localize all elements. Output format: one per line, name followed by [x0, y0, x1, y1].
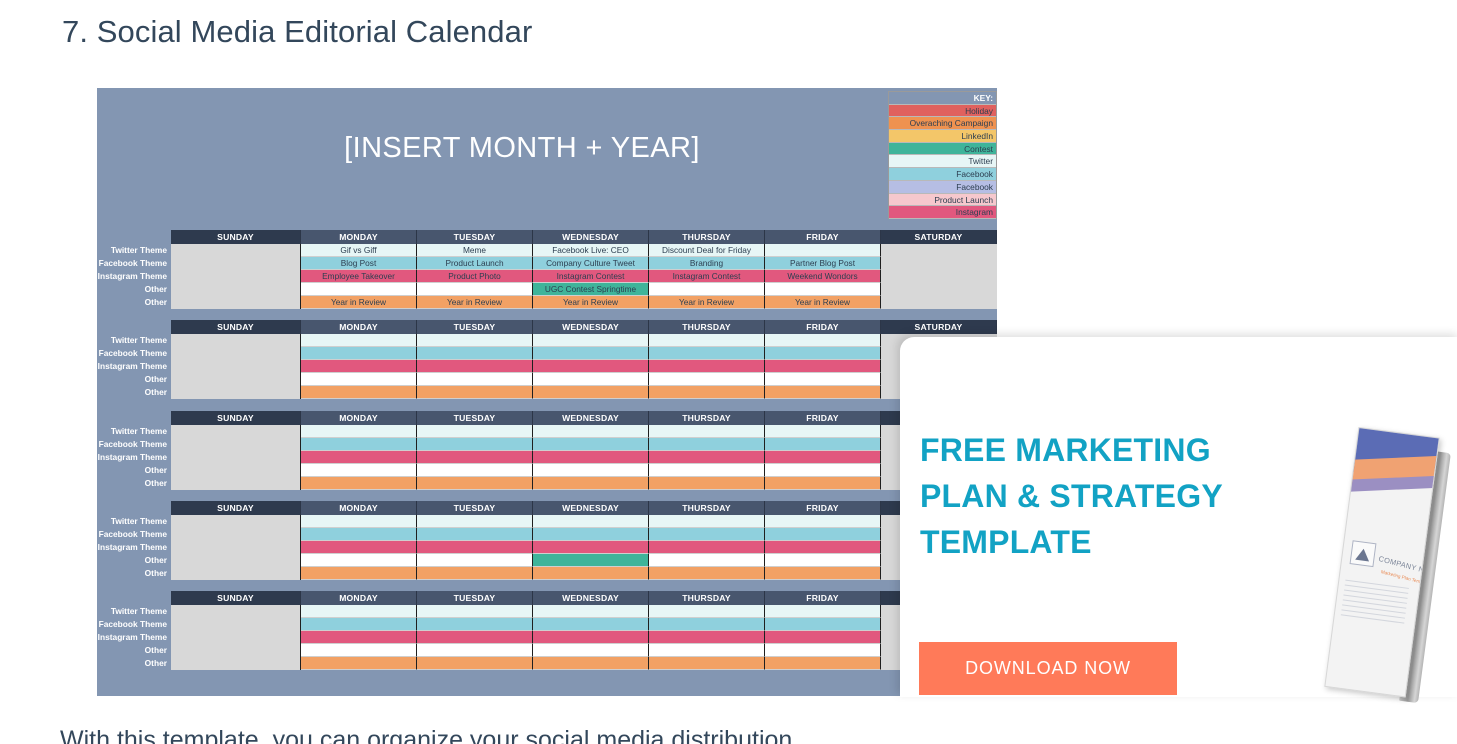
- calendar-cell[interactable]: [417, 283, 533, 296]
- calendar-cell[interactable]: [417, 541, 533, 554]
- calendar-day-header[interactable]: SUNDAY: [171, 230, 301, 244]
- calendar-cell[interactable]: [649, 438, 765, 451]
- calendar-day-header[interactable]: THURSDAY: [649, 411, 765, 425]
- calendar-row: [171, 605, 997, 618]
- calendar-day-header[interactable]: SUNDAY: [171, 320, 301, 334]
- calendar-row-label: Facebook Theme: [97, 347, 167, 360]
- calendar-cell[interactable]: [301, 605, 417, 618]
- calendar-cell[interactable]: [171, 360, 301, 373]
- calendar-row-label: Other: [97, 554, 167, 567]
- calendar-row: [171, 528, 997, 541]
- calendar-cell[interactable]: [765, 631, 881, 644]
- calendar-cell[interactable]: Year in Review: [533, 296, 649, 309]
- calendar-cell[interactable]: [765, 451, 881, 464]
- calendar-cell[interactable]: [765, 541, 881, 554]
- calendar-cell[interactable]: [765, 528, 881, 541]
- calendar-cell[interactable]: [301, 618, 417, 631]
- calendar-cell[interactable]: [301, 515, 417, 528]
- calendar-day-header[interactable]: SATURDAY: [881, 320, 997, 334]
- calendar-cell[interactable]: [533, 334, 649, 347]
- calendar-row: [171, 438, 997, 451]
- calendar-cell[interactable]: [171, 541, 301, 554]
- calendar-cell[interactable]: [417, 360, 533, 373]
- calendar-cell[interactable]: [417, 425, 533, 438]
- calendar-cell[interactable]: [417, 373, 533, 386]
- calendar-cell[interactable]: [649, 334, 765, 347]
- calendar-cell[interactable]: [301, 334, 417, 347]
- calendar-day-header[interactable]: TUESDAY: [417, 230, 533, 244]
- calendar-cell[interactable]: [649, 528, 765, 541]
- calendar-cell[interactable]: [171, 528, 301, 541]
- calendar-cell[interactable]: [649, 554, 765, 567]
- calendar-cell[interactable]: [171, 477, 301, 490]
- calendar-cell[interactable]: [171, 386, 301, 399]
- calendar-cell[interactable]: Discount Deal for Friday: [649, 244, 765, 257]
- calendar-row-label: Twitter Theme: [97, 334, 167, 347]
- calendar-cell[interactable]: [417, 605, 533, 618]
- calendar-cell[interactable]: [649, 567, 765, 580]
- calendar-cell[interactable]: [301, 528, 417, 541]
- calendar-cell[interactable]: [533, 528, 649, 541]
- calendar-cell[interactable]: [881, 283, 997, 296]
- calendar-row: UGC Contest Springtime: [171, 283, 997, 296]
- calendar-cell[interactable]: [301, 657, 417, 670]
- calendar-cell[interactable]: [171, 257, 301, 270]
- calendar-cell[interactable]: [171, 244, 301, 257]
- calendar-row: [171, 360, 997, 373]
- calendar-day-header[interactable]: WEDNESDAY: [533, 320, 649, 334]
- calendar-cell[interactable]: [649, 605, 765, 618]
- calendar-row-label: Twitter Theme: [97, 515, 167, 528]
- calendar-row: [171, 567, 997, 580]
- calendar-cell[interactable]: [417, 386, 533, 399]
- calendar-row: [171, 477, 997, 490]
- template-book-mockup-image: COMPANY NAME Marketing Plan Template: [1335, 422, 1453, 712]
- promo-headline: FREE MARKETING PLAN & STRATEGY TEMPLATE: [920, 427, 1290, 565]
- book-shape: COMPANY NAME Marketing Plan Template: [1324, 427, 1451, 699]
- calendar-day-header[interactable]: FRIDAY: [765, 411, 881, 425]
- body-paragraph: With this template, you can organize you…: [60, 726, 792, 744]
- calendar-day-header[interactable]: MONDAY: [301, 411, 417, 425]
- calendar-cell[interactable]: [417, 618, 533, 631]
- calendar-row-label: Other: [97, 386, 167, 399]
- calendar-cell[interactable]: [533, 567, 649, 580]
- calendar-cell[interactable]: [533, 618, 649, 631]
- calendar-cell[interactable]: [301, 554, 417, 567]
- calendar-cell[interactable]: [649, 464, 765, 477]
- calendar-cell[interactable]: [171, 644, 301, 657]
- calendar-cell[interactable]: [533, 515, 649, 528]
- calendar-row-label: Twitter Theme: [97, 605, 167, 618]
- calendar-day-header[interactable]: THURSDAY: [649, 230, 765, 244]
- calendar-cell[interactable]: Instagram Contest: [649, 270, 765, 283]
- calendar-cell[interactable]: [649, 515, 765, 528]
- calendar-cell[interactable]: [171, 605, 301, 618]
- calendar-cell[interactable]: [417, 528, 533, 541]
- calendar-cell[interactable]: Year in Review: [417, 296, 533, 309]
- calendar-cell[interactable]: [765, 567, 881, 580]
- calendar-cell[interactable]: [533, 386, 649, 399]
- calendar-day-header[interactable]: WEDNESDAY: [533, 591, 649, 605]
- calendar-row-label: Other: [97, 296, 167, 309]
- calendar-cell[interactable]: Year in Review: [649, 296, 765, 309]
- calendar-cell[interactable]: [765, 464, 881, 477]
- calendar-cell[interactable]: [301, 425, 417, 438]
- calendar-cell[interactable]: [171, 567, 301, 580]
- calendar-day-header[interactable]: MONDAY: [301, 591, 417, 605]
- calendar-cell[interactable]: [301, 386, 417, 399]
- calendar-row: [171, 334, 997, 347]
- calendar-row-labels: Twitter ThemeFacebook ThemeInstagram The…: [97, 244, 169, 309]
- calendar-cell[interactable]: [649, 477, 765, 490]
- calendar-cell[interactable]: [533, 425, 649, 438]
- calendar-day-header-row: SUNDAYMONDAYTUESDAYWEDNESDAYTHURSDAYFRID…: [171, 411, 997, 425]
- calendar-row-label: Facebook Theme: [97, 438, 167, 451]
- calendar-cell[interactable]: [417, 554, 533, 567]
- calendar-cell[interactable]: [533, 631, 649, 644]
- calendar-cell[interactable]: [301, 283, 417, 296]
- calendar-row: [171, 644, 997, 657]
- calendar-day-header-row: SUNDAYMONDAYTUESDAYWEDNESDAYTHURSDAYFRID…: [171, 230, 997, 244]
- calendar-row: Employee TakeoverProduct PhotoInstagram …: [171, 270, 997, 283]
- calendar-row-label: Other: [97, 657, 167, 670]
- calendar-cell[interactable]: Meme: [417, 244, 533, 257]
- calendar-cell[interactable]: [417, 464, 533, 477]
- calendar-cell[interactable]: [649, 386, 765, 399]
- calendar-day-header[interactable]: FRIDAY: [765, 320, 881, 334]
- calendar-row-label: Facebook Theme: [97, 528, 167, 541]
- calendar-day-header[interactable]: THURSDAY: [649, 591, 765, 605]
- calendar-cell[interactable]: [301, 644, 417, 657]
- calendar-cell[interactable]: [417, 438, 533, 451]
- calendar-row-labels: Twitter ThemeFacebook ThemeInstagram The…: [97, 425, 169, 490]
- calendar-cell[interactable]: [417, 451, 533, 464]
- calendar-cell[interactable]: [765, 360, 881, 373]
- calendar-cell[interactable]: [417, 567, 533, 580]
- calendar-row: [171, 386, 997, 399]
- calendar-day-header[interactable]: MONDAY: [301, 230, 417, 244]
- calendar-cell[interactable]: [301, 373, 417, 386]
- calendar-cell[interactable]: Year in Review: [301, 296, 417, 309]
- calendar-day-header[interactable]: TUESDAY: [417, 320, 533, 334]
- calendar-cell[interactable]: Employee Takeover: [301, 270, 417, 283]
- calendar-cell[interactable]: Product Photo: [417, 270, 533, 283]
- calendar-cell[interactable]: [171, 283, 301, 296]
- calendar-row-label: Other: [97, 644, 167, 657]
- calendar-cell[interactable]: [533, 657, 649, 670]
- calendar-row: [171, 657, 997, 670]
- promo-headline-line-3: TEMPLATE: [920, 519, 1290, 565]
- calendar-day-header[interactable]: MONDAY: [301, 501, 417, 515]
- calendar-cell[interactable]: [881, 244, 997, 257]
- calendar-cell[interactable]: [533, 451, 649, 464]
- calendar-cell[interactable]: [301, 464, 417, 477]
- calendar-cell[interactable]: [171, 270, 301, 283]
- calendar-cell[interactable]: [533, 347, 649, 360]
- calendar-day-header[interactable]: SATURDAY: [881, 230, 997, 244]
- calendar-row: [171, 631, 997, 644]
- calendar-row: [171, 451, 997, 464]
- calendar-cell[interactable]: [765, 515, 881, 528]
- calendar-cell[interactable]: [171, 425, 301, 438]
- calendar-cell[interactable]: [765, 618, 881, 631]
- key-legend-item: Instagram: [889, 206, 996, 219]
- key-legend-header: KEY:: [889, 92, 996, 105]
- calendar-cell[interactable]: Company Culture Tweet: [533, 257, 649, 270]
- calendar-day-header[interactable]: MONDAY: [301, 320, 417, 334]
- page-title: 7. Social Media Editorial Calendar: [62, 14, 532, 50]
- calendar-row: [171, 515, 997, 528]
- calendar-cell[interactable]: [649, 618, 765, 631]
- calendar-row-label: Twitter Theme: [97, 244, 167, 257]
- calendar-row-label: Instagram Theme: [97, 451, 167, 464]
- calendar-day-header-row: SUNDAYMONDAYTUESDAYWEDNESDAYTHURSDAYFRID…: [171, 591, 997, 605]
- calendar-cell[interactable]: [649, 657, 765, 670]
- calendar-cell[interactable]: [881, 257, 997, 270]
- calendar-cell[interactable]: [765, 657, 881, 670]
- calendar-cell[interactable]: [301, 567, 417, 580]
- calendar-cell[interactable]: [301, 541, 417, 554]
- calendar-row-label: Other: [97, 477, 167, 490]
- key-legend-item: Product Launch: [889, 194, 996, 207]
- calendar-cell[interactable]: [765, 386, 881, 399]
- calendar-cell[interactable]: [765, 477, 881, 490]
- calendar-row-label: Facebook Theme: [97, 257, 167, 270]
- key-legend-item: Contest: [889, 143, 996, 156]
- calendar-cell[interactable]: [533, 438, 649, 451]
- calendar-row: [171, 464, 997, 477]
- calendar-cell[interactable]: [649, 631, 765, 644]
- calendar-cell[interactable]: [649, 360, 765, 373]
- calendar-cell[interactable]: [171, 438, 301, 451]
- calendar-cell[interactable]: [765, 605, 881, 618]
- calendar-cell[interactable]: [533, 644, 649, 657]
- calendar-row-label: Instagram Theme: [97, 360, 167, 373]
- calendar-cell[interactable]: Branding: [649, 257, 765, 270]
- calendar-row: [171, 347, 997, 360]
- calendar-month-year-title: [INSERT MONTH + YEAR]: [177, 132, 867, 165]
- calendar-cell[interactable]: [301, 360, 417, 373]
- calendar-cell[interactable]: [417, 515, 533, 528]
- calendar-cell[interactable]: [881, 296, 997, 309]
- calendar-cell[interactable]: [417, 631, 533, 644]
- calendar-day-header[interactable]: WEDNESDAY: [533, 501, 649, 515]
- calendar-cell[interactable]: [765, 644, 881, 657]
- social-media-calendar-image: [INSERT MONTH + YEAR] KEY: HolidayOverac…: [97, 88, 997, 696]
- calendar-cell[interactable]: [171, 618, 301, 631]
- key-legend-item: Facebook: [889, 181, 996, 194]
- calendar-row: [171, 425, 997, 438]
- calendar-day-header[interactable]: SUNDAY: [171, 591, 301, 605]
- calendar-cell[interactable]: [765, 334, 881, 347]
- book-text-lines: [1340, 580, 1409, 628]
- calendar-cell[interactable]: Blog Post: [301, 257, 417, 270]
- calendar-row: [171, 373, 997, 386]
- calendar-cell[interactable]: [171, 347, 301, 360]
- calendar-cell[interactable]: [171, 334, 301, 347]
- key-legend-item: Overaching Campaign: [889, 117, 996, 130]
- calendar-row: [171, 618, 997, 631]
- calendar-cell[interactable]: [417, 477, 533, 490]
- calendar-cell[interactable]: [649, 373, 765, 386]
- key-legend-item: Twitter: [889, 155, 996, 168]
- calendar-row: Year in ReviewYear in ReviewYear in Revi…: [171, 296, 997, 309]
- calendar-row-label: Instagram Theme: [97, 631, 167, 644]
- calendar-cell[interactable]: [649, 347, 765, 360]
- calendar-cell[interactable]: Product Launch: [417, 257, 533, 270]
- calendar-cell[interactable]: [171, 631, 301, 644]
- key-legend-item: LinkedIn: [889, 130, 996, 143]
- calendar-cell[interactable]: [765, 425, 881, 438]
- calendar-day-header-row: SUNDAYMONDAYTUESDAYWEDNESDAYTHURSDAYFRID…: [171, 501, 997, 515]
- calendar-cell[interactable]: [417, 644, 533, 657]
- calendar-row-label: Twitter Theme: [97, 425, 167, 438]
- calendar-week-grid: SUNDAYMONDAYTUESDAYWEDNESDAYTHURSDAYFRID…: [171, 501, 997, 580]
- key-legend: KEY: HolidayOveraching CampaignLinkedInC…: [888, 91, 997, 219]
- calendar-row-label: Instagram Theme: [97, 270, 167, 283]
- calendar-cell[interactable]: [533, 464, 649, 477]
- calendar-cell[interactable]: [765, 244, 881, 257]
- calendar-cell[interactable]: [171, 657, 301, 670]
- calendar-cell[interactable]: [533, 605, 649, 618]
- calendar-cell[interactable]: Instagram Contest: [533, 270, 649, 283]
- calendar-cell[interactable]: Partner Blog Post: [765, 257, 881, 270]
- calendar-day-header-row: SUNDAYMONDAYTUESDAYWEDNESDAYTHURSDAYFRID…: [171, 320, 997, 334]
- calendar-row-label: Instagram Theme: [97, 541, 167, 554]
- calendar-week-grid: SUNDAYMONDAYTUESDAYWEDNESDAYTHURSDAYFRID…: [171, 411, 997, 490]
- promo-headline-line-1: FREE MARKETING: [920, 427, 1290, 473]
- calendar-cell[interactable]: [765, 373, 881, 386]
- calendar-cell[interactable]: [533, 477, 649, 490]
- calendar-row: Blog PostProduct LaunchCompany Culture T…: [171, 257, 997, 270]
- calendar-cell[interactable]: [533, 541, 649, 554]
- calendar-cell[interactable]: Gif vs Giff: [301, 244, 417, 257]
- calendar-row-label: Other: [97, 464, 167, 477]
- calendar-day-header[interactable]: TUESDAY: [417, 411, 533, 425]
- calendar-week-grid: SUNDAYMONDAYTUESDAYWEDNESDAYTHURSDAYFRID…: [171, 230, 997, 309]
- calendar-cell[interactable]: Facebook Live: CEO: [533, 244, 649, 257]
- calendar-cell[interactable]: [765, 438, 881, 451]
- calendar-cell[interactable]: [301, 451, 417, 464]
- calendar-week-grid: SUNDAYMONDAYTUESDAYWEDNESDAYTHURSDAYFRID…: [171, 591, 997, 670]
- calendar-day-header[interactable]: WEDNESDAY: [533, 411, 649, 425]
- calendar-cell[interactable]: [765, 283, 881, 296]
- calendar-day-header[interactable]: SUNDAY: [171, 411, 301, 425]
- page-root: 7. Social Media Editorial Calendar [INSE…: [0, 0, 1457, 744]
- calendar-cell[interactable]: UGC Contest Springtime: [533, 283, 649, 296]
- calendar-row-label: Other: [97, 567, 167, 580]
- calendar-cell[interactable]: [881, 270, 997, 283]
- calendar-cell[interactable]: [171, 373, 301, 386]
- calendar-cell[interactable]: [533, 373, 649, 386]
- calendar-row-labels: Twitter ThemeFacebook ThemeInstagram The…: [97, 334, 169, 399]
- calendar-cell[interactable]: [649, 283, 765, 296]
- calendar-cell[interactable]: [171, 515, 301, 528]
- calendar-row: Gif vs GiffMemeFacebook Live: CEODiscoun…: [171, 244, 997, 257]
- calendar-cell[interactable]: [649, 425, 765, 438]
- calendar-cell[interactable]: [301, 477, 417, 490]
- calendar-cell[interactable]: [765, 554, 881, 567]
- calendar-cell[interactable]: [301, 438, 417, 451]
- calendar-day-header[interactable]: FRIDAY: [765, 501, 881, 515]
- calendar-day-header[interactable]: FRIDAY: [765, 230, 881, 244]
- book-logo-icon: [1350, 540, 1377, 567]
- download-now-button[interactable]: DOWNLOAD NOW: [919, 642, 1177, 695]
- calendar-row-labels: Twitter ThemeFacebook ThemeInstagram The…: [97, 515, 169, 580]
- calendar-row: [171, 554, 997, 567]
- calendar-cell[interactable]: [301, 631, 417, 644]
- calendar-cell[interactable]: [417, 657, 533, 670]
- key-legend-item: Holiday: [889, 105, 996, 118]
- calendar-cell[interactable]: Year in Review: [765, 296, 881, 309]
- calendar-cell[interactable]: [533, 360, 649, 373]
- calendar-cell[interactable]: [417, 347, 533, 360]
- calendar-week-grid: SUNDAYMONDAYTUESDAYWEDNESDAYTHURSDAYFRID…: [171, 320, 997, 399]
- calendar-day-header[interactable]: SUNDAY: [171, 501, 301, 515]
- calendar-cell[interactable]: Weekend Wondors: [765, 270, 881, 283]
- calendar-cell[interactable]: [417, 334, 533, 347]
- calendar-cell[interactable]: [533, 554, 649, 567]
- calendar-cell[interactable]: [649, 541, 765, 554]
- calendar-cell[interactable]: [171, 554, 301, 567]
- calendar-cell[interactable]: [765, 347, 881, 360]
- promo-headline-line-2: PLAN & STRATEGY: [920, 473, 1290, 519]
- calendar-row-label: Other: [97, 283, 167, 296]
- calendar-row-labels: Twitter ThemeFacebook ThemeInstagram The…: [97, 605, 169, 670]
- calendar-day-header[interactable]: TUESDAY: [417, 501, 533, 515]
- calendar-cell[interactable]: [649, 451, 765, 464]
- calendar-cell[interactable]: [171, 296, 301, 309]
- calendar-cell[interactable]: [171, 451, 301, 464]
- calendar-day-header[interactable]: THURSDAY: [649, 320, 765, 334]
- calendar-cell[interactable]: [301, 347, 417, 360]
- calendar-day-header[interactable]: TUESDAY: [417, 591, 533, 605]
- calendar-day-header[interactable]: FRIDAY: [765, 591, 881, 605]
- calendar-row-label: Facebook Theme: [97, 618, 167, 631]
- key-legend-item: Facebook: [889, 168, 996, 181]
- calendar-cell[interactable]: [649, 644, 765, 657]
- calendar-day-header[interactable]: THURSDAY: [649, 501, 765, 515]
- calendar-row-label: Other: [97, 373, 167, 386]
- calendar-cell[interactable]: [171, 464, 301, 477]
- calendar-day-header[interactable]: WEDNESDAY: [533, 230, 649, 244]
- calendar-row: [171, 541, 997, 554]
